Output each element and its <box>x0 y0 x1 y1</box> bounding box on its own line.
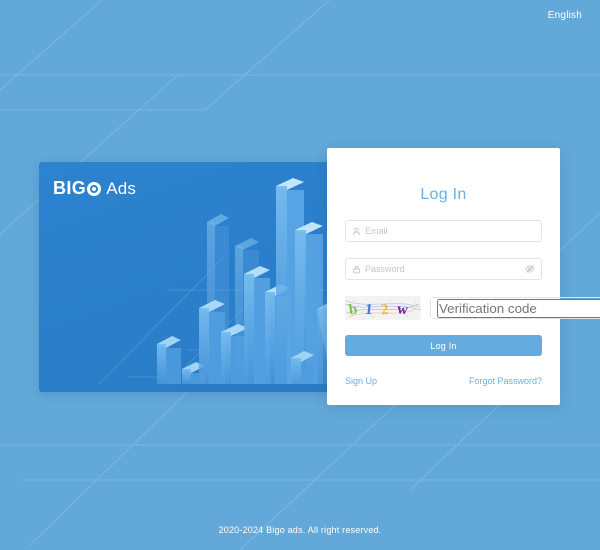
eye-slash-icon[interactable] <box>525 264 535 274</box>
page-title: Log In <box>345 186 542 204</box>
password-input[interactable] <box>365 264 521 274</box>
language-switcher[interactable]: English <box>548 10 582 21</box>
login-card: Log In <box>327 148 560 405</box>
logo-ads-text: Ads <box>106 179 136 199</box>
password-field-wrapper[interactable] <box>345 258 542 280</box>
signup-link[interactable]: Sign Up <box>345 376 377 386</box>
user-icon <box>352 227 361 236</box>
logo-bigo-text: BIG <box>53 178 101 199</box>
captcha-svg: b 1 2 w <box>345 296 421 320</box>
captcha-image[interactable]: b 1 2 w <box>345 296 421 320</box>
verification-code-field-wrapper[interactable] <box>430 297 600 319</box>
bigo-ads-logo: BIG Ads <box>53 178 136 199</box>
logo-o-icon <box>87 182 101 196</box>
logo-bigo-letters: BIG <box>53 178 86 199</box>
login-submit-button[interactable]: Log In <box>345 335 542 356</box>
captcha-row: b 1 2 w <box>345 296 542 320</box>
footer-copyright: 2020-2024 Bigo ads. All right reserved. <box>0 525 600 535</box>
lock-icon <box>352 265 361 274</box>
email-field-wrapper[interactable] <box>345 220 542 242</box>
top-bar: English <box>0 0 600 30</box>
login-stage: BIG Ads Log In <box>0 0 600 550</box>
card-links: Sign Up Forgot Password? <box>345 376 542 386</box>
email-input[interactable] <box>365 226 535 236</box>
promo-panel: BIG Ads <box>39 162 332 392</box>
forgot-password-link[interactable]: Forgot Password? <box>469 376 542 386</box>
verification-code-input[interactable] <box>437 299 600 318</box>
svg-text:2: 2 <box>380 302 389 319</box>
